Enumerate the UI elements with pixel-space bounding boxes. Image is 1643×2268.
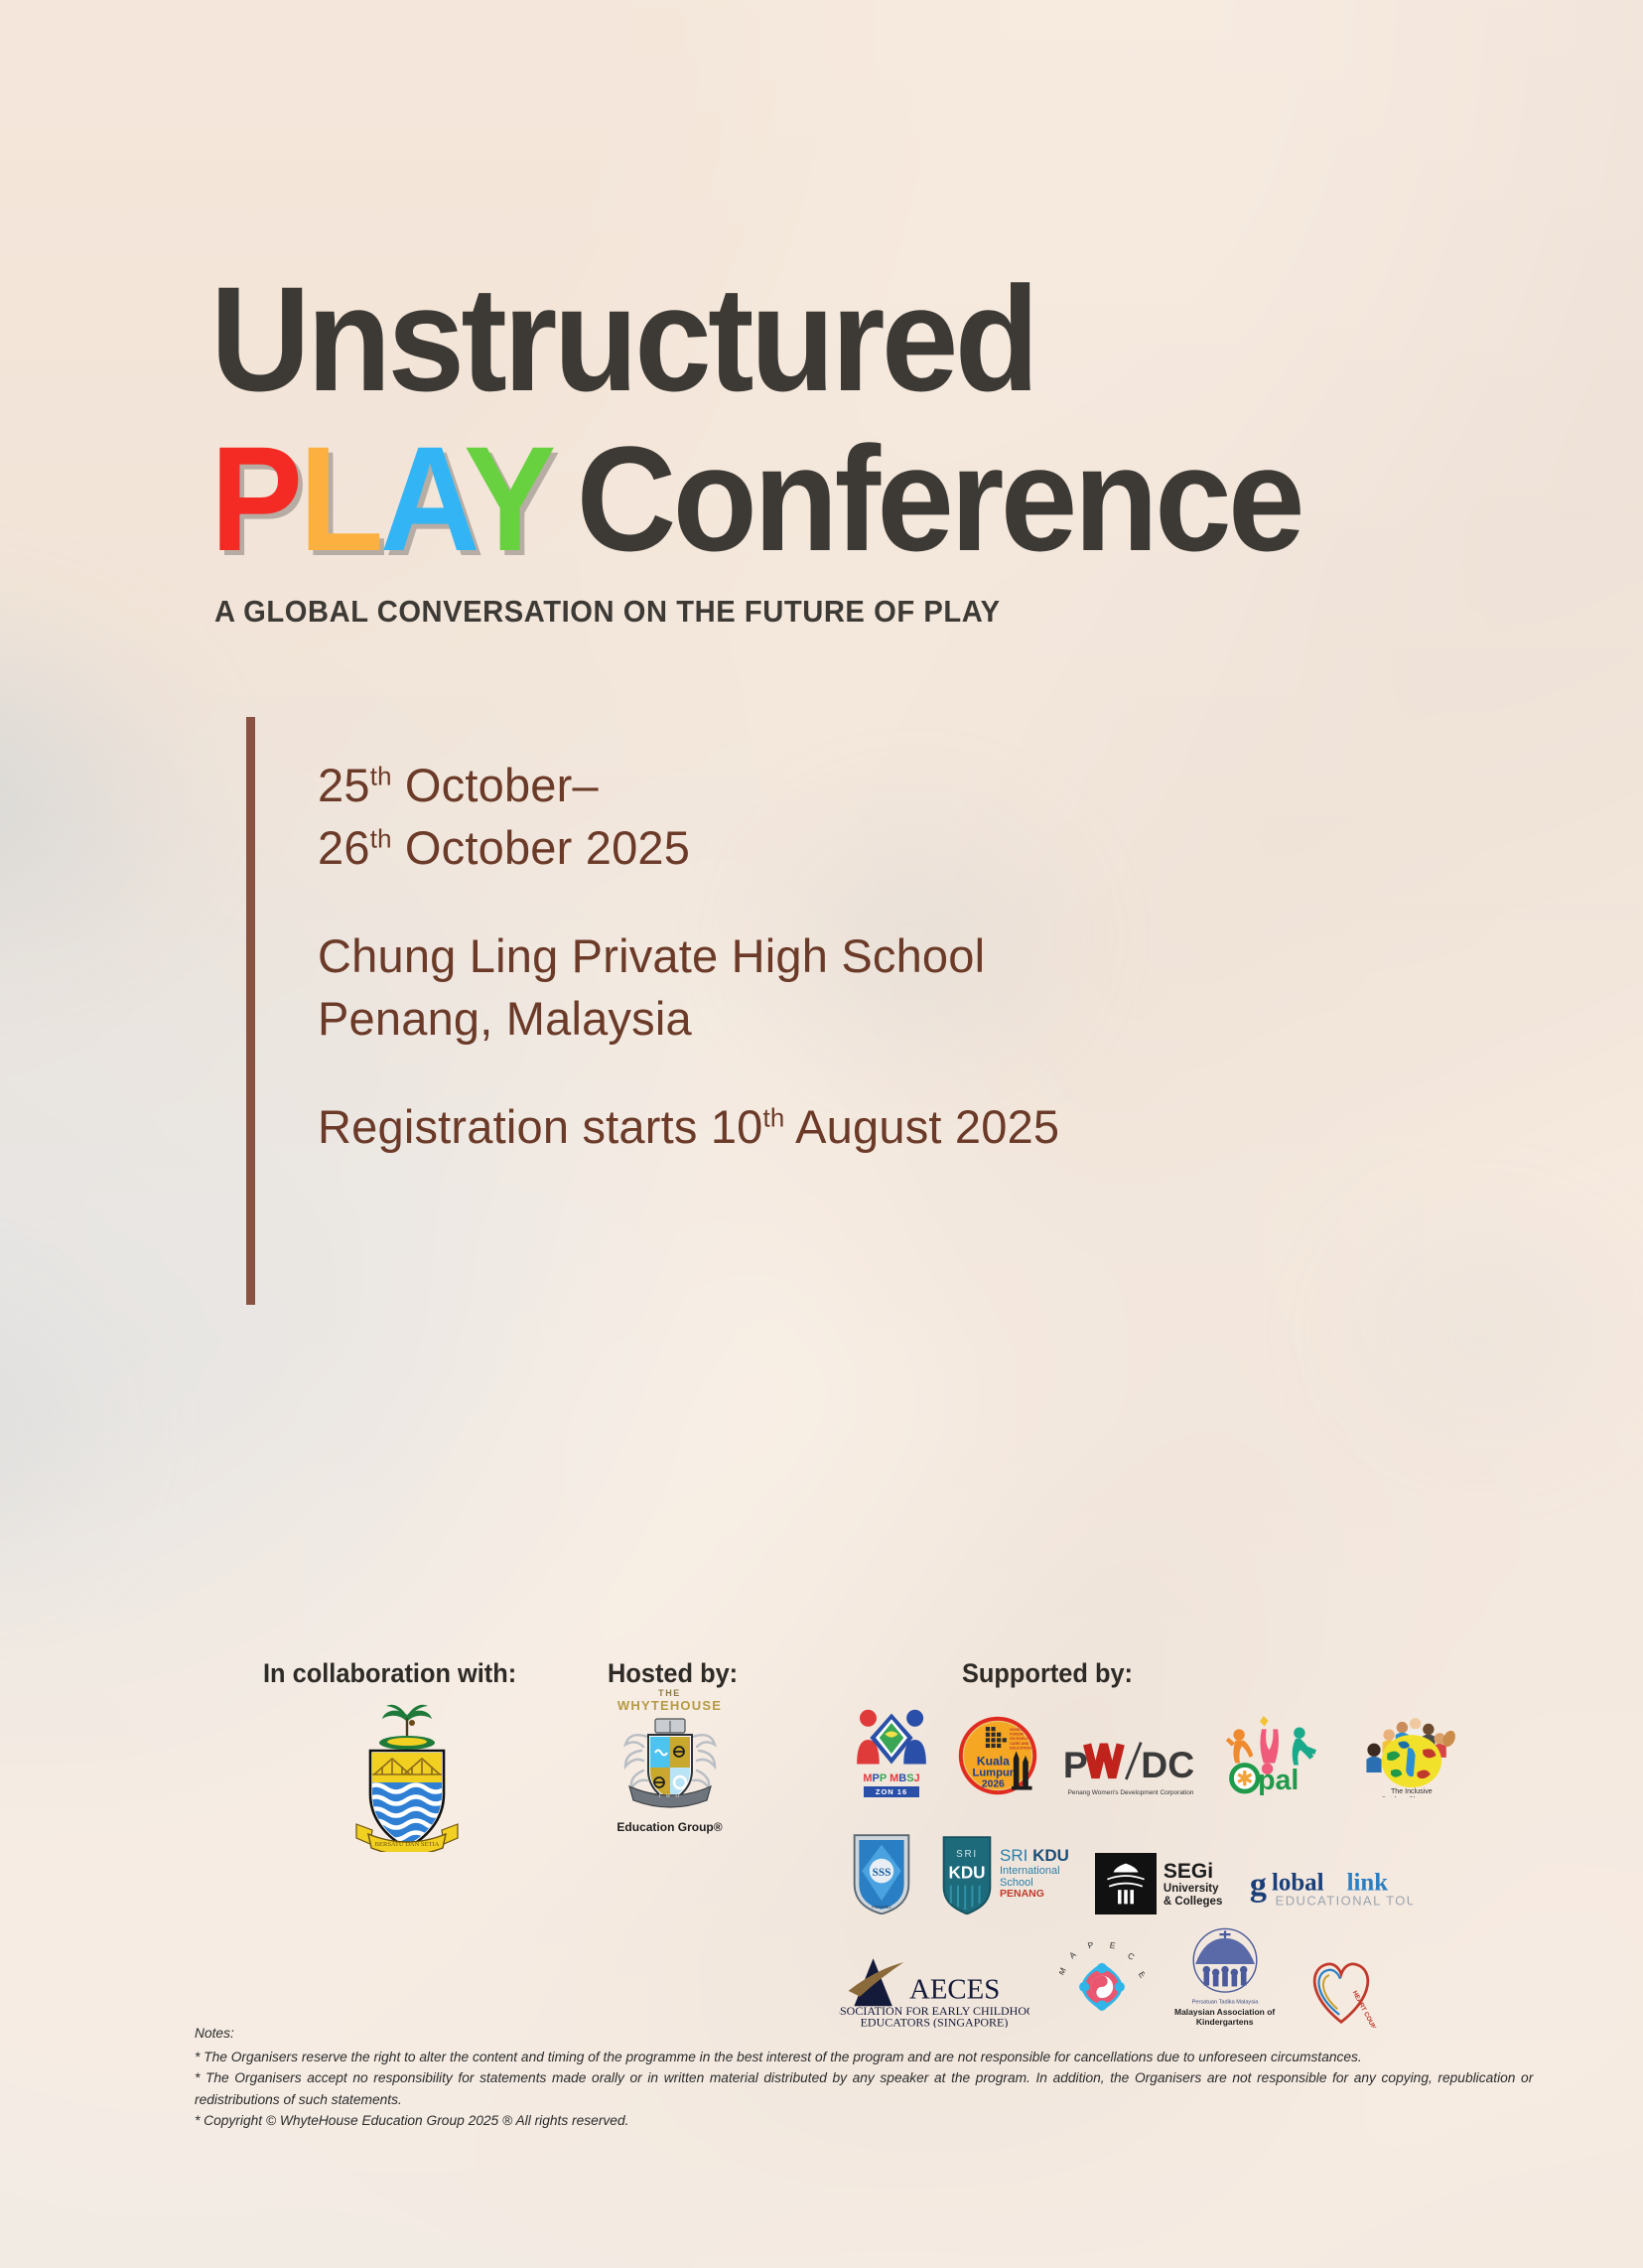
date-start-day: 25	[318, 759, 370, 811]
date-end-day: 26	[318, 821, 370, 874]
svg-text:C: C	[1126, 1950, 1136, 1962]
logo-sri-kdu: SRI KDU SRI KDU International School PEN…	[940, 1833, 1069, 1914]
svg-text:Persatuan Tadika Malaysia: Persatuan Tadika Malaysia	[1191, 1999, 1259, 2005]
logo-mpp-mbsj: MPP MBSJ ZON 16	[849, 1706, 934, 1797]
date-start-suffix: th	[370, 763, 392, 790]
poster-notes: Notes: * The Organisers reserve the righ…	[195, 2024, 1533, 2133]
title-line-play-conference: PLAYConference	[210, 426, 1301, 572]
venue-name: Chung Ling Private High School	[318, 925, 1059, 988]
whytehouse-education-group: Education Group®	[608, 1820, 732, 1834]
svg-text:ON EARLY: ON EARLY	[1010, 1737, 1028, 1741]
svg-text:AECES: AECES	[909, 1973, 1000, 2005]
play-letter-p: P	[210, 415, 299, 582]
logo-kuala-lumpur-2026: WORLD FORUM ON EARLY CARE AND EDUCATION …	[956, 1714, 1039, 1797]
svg-text:EDUCATIONAL TOUR: EDUCATIONAL TOUR	[1276, 1893, 1413, 1908]
svg-text:FORUM: FORUM	[1010, 1732, 1024, 1736]
event-date-end: 26th October 2025	[318, 817, 1059, 880]
svg-text:SRI: SRI	[956, 1849, 978, 1860]
svg-text:DC: DC	[1141, 1744, 1194, 1785]
registration-prefix: Registration starts	[318, 1100, 711, 1153]
title-line-unstructured: Unstructured	[210, 266, 1301, 412]
registration-line: Registration starts 10th August 2025	[318, 1096, 1059, 1159]
svg-text:The Inclusive: The Inclusive	[1391, 1786, 1433, 1794]
date-end-month: October 2025	[392, 821, 690, 874]
registration-suffix: th	[763, 1104, 785, 1132]
supported-logos-row-3: AECES ASSOCIATION FOR EARLY CHILDHOOD ED…	[839, 1921, 1378, 2028]
registration-rest: August 2025	[784, 1100, 1059, 1153]
whytehouse-logo: THE WHYTEHOUSE	[608, 1688, 732, 1834]
logo-persatuan-tadika-malaysia: Persatuan Tadika Malaysia Malaysian Asso…	[1174, 1921, 1275, 2028]
svg-text:CARE AND: CARE AND	[1010, 1741, 1029, 1745]
svg-text:BERSATU DAN SETIA: BERSATU DAN SETIA	[375, 1841, 440, 1848]
poster-subtitle: A GLOBAL CONVERSATION ON THE FUTURE OF P…	[214, 594, 1001, 630]
play-letter-y: Y	[464, 415, 552, 582]
svg-text:2026: 2026	[982, 1778, 1005, 1789]
collaboration-heading: In collaboration with:	[263, 1658, 516, 1689]
poster-title-block: Unstructured PLAYConference	[210, 266, 1384, 572]
date-end-suffix: th	[370, 825, 392, 853]
title-word-conference: Conference	[577, 415, 1301, 582]
svg-text:P: P	[1086, 1942, 1095, 1950]
svg-text:I W O: I W O	[659, 1794, 681, 1799]
whytehouse-name: WHYTEHOUSE	[608, 1698, 732, 1713]
note-item-2: * The Organisers accept no responsibilit…	[195, 2068, 1533, 2111]
svg-text:g: g	[1250, 1867, 1267, 1904]
registration-day: 10	[711, 1100, 763, 1153]
logo-pwdc: P DC Penang Women's Development Corporat…	[1061, 1736, 1200, 1796]
logo-heart-council: HEART COUNCIL	[1304, 1948, 1378, 2028]
svg-text:WORLD: WORLD	[1010, 1727, 1024, 1731]
svg-text:PENANG: PENANG	[872, 1905, 891, 1910]
event-venue: Chung Ling Private High School Penang, M…	[318, 925, 1059, 1051]
event-dates: 25th October– 26th October 2025	[318, 755, 1059, 880]
logo-inclusive-outdoor-classroom: The Inclusive Outdoor Classroom	[1357, 1712, 1460, 1797]
mpp-mbsj-zone: ZON 16	[864, 1786, 919, 1797]
poster-page: Unstructured PLAYConference A GLOBAL CON…	[0, 0, 1643, 2268]
date-start-month: October–	[392, 759, 599, 811]
mpp-mbsj-label: MPP MBSJ	[863, 1772, 919, 1785]
accent-vertical-bar	[246, 717, 255, 1305]
sri-kdu-penang: PENANG	[1000, 1889, 1069, 1900]
registration-info: Registration starts 10th August 2025	[318, 1096, 1059, 1159]
supported-heading: Supported by:	[962, 1658, 1133, 1689]
svg-text:Kuala: Kuala	[977, 1754, 1010, 1768]
note-item-3: * Copyright © WhyteHouse Education Group…	[195, 2111, 1533, 2133]
svg-text:P: P	[1063, 1744, 1088, 1785]
logo-opal: pal	[1222, 1712, 1335, 1797]
whytehouse-the: THE	[608, 1688, 732, 1698]
pwdc-fullname: Penang Women's Development Corporation	[1068, 1789, 1194, 1796]
svg-text:Outdoor Classroom: Outdoor Classroom	[1381, 1795, 1441, 1797]
note-item-1: * The Organisers reserve the right to al…	[195, 2048, 1533, 2069]
svg-text:A: A	[1067, 1948, 1078, 1960]
supported-logos-row-2: SSS PENANG SRI KDU SRI KDU International…	[849, 1829, 1413, 1914]
svg-text:E: E	[1137, 1969, 1145, 1979]
svg-text:KDU: KDU	[948, 1864, 985, 1883]
play-letter-l: L	[299, 415, 380, 582]
logo-segi: SEGi University & Colleges	[1095, 1853, 1222, 1914]
sri-kdu-sub1: International	[1000, 1866, 1069, 1878]
penang-crest-icon: BERSATU DAN SETIA	[352, 1703, 462, 1857]
logo-mapece: M A P E C E	[1059, 1942, 1145, 2028]
svg-text:E: E	[1109, 1942, 1116, 1950]
supported-logos-row-1: MPP MBSJ ZON 16 WORLD FORUM ON EARLY CAR…	[849, 1706, 1460, 1797]
play-letter-a: A	[380, 415, 464, 582]
svg-text:Lumpur: Lumpur	[973, 1767, 1015, 1778]
logo-aeces: AECES ASSOCIATION FOR EARLY CHILDHOOD ED…	[839, 1950, 1029, 2028]
whytehouse-crest-icon: I W O	[608, 1713, 732, 1812]
event-date-start: 25th October–	[318, 755, 1059, 817]
svg-text:SSS: SSS	[873, 1867, 891, 1879]
venue-location: Penang, Malaysia	[318, 988, 1059, 1051]
svg-text:pal: pal	[1258, 1765, 1299, 1796]
event-details: 25th October– 26th October 2025 Chung Li…	[318, 755, 1059, 1159]
hosted-heading: Hosted by:	[608, 1658, 738, 1689]
svg-text:EDUCATION: EDUCATION	[1010, 1746, 1031, 1750]
logo-global-link: g lobal link EDUCATIONAL TOUR	[1248, 1859, 1413, 1914]
logo-penang-school-crest: SSS PENANG	[849, 1829, 914, 1914]
segi-label: SEGi	[1164, 1860, 1222, 1883]
svg-text:M: M	[1059, 1965, 1068, 1976]
notes-heading: Notes:	[195, 2024, 1533, 2046]
